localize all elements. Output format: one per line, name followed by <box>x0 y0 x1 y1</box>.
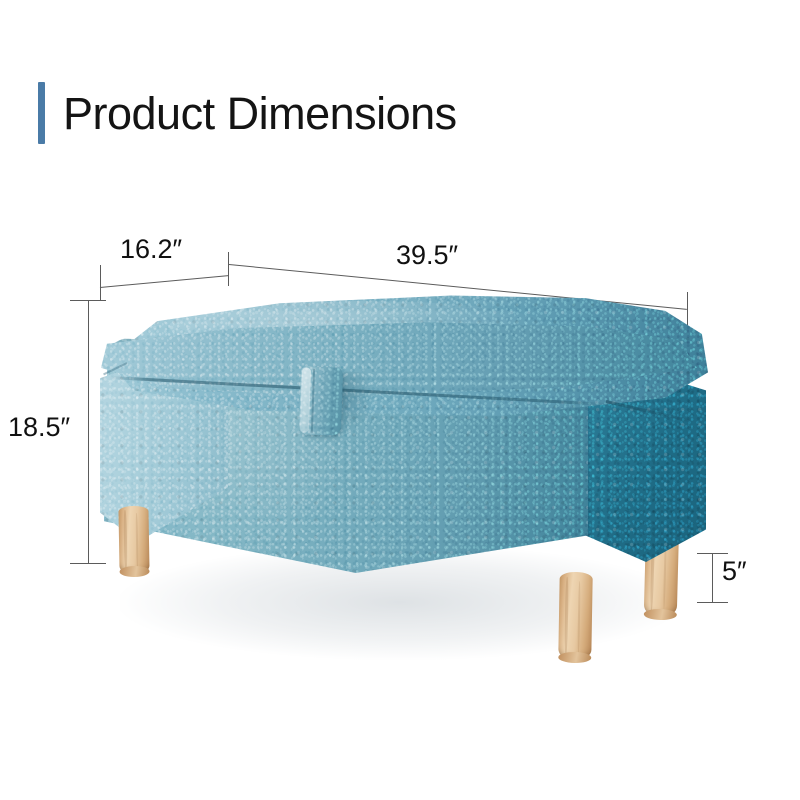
pull-tab-crease <box>311 369 315 433</box>
dimension-tick-depth-left <box>100 265 101 301</box>
dimension-tick-width-right <box>687 292 688 327</box>
dimension-line-height <box>88 300 89 564</box>
dimension-label-height: 18.5″ <box>8 412 70 443</box>
product-illustration <box>0 0 800 800</box>
dimension-cap-leg-top <box>697 553 728 554</box>
dimension-label-depth: 16.2″ <box>120 234 182 265</box>
dimension-cap-height-top <box>70 300 106 301</box>
product-dimensions-infographic: Product Dimensions <box>0 0 800 800</box>
leg-front-right <box>558 572 593 661</box>
dimension-label-leg-height: 5″ <box>722 556 747 587</box>
leg-cap <box>558 652 591 664</box>
leg-front-left <box>118 506 149 575</box>
dimension-cap-height-bottom <box>70 563 106 564</box>
leg-cap <box>644 609 677 621</box>
pull-tab-left-highlight <box>300 367 311 433</box>
dimension-cap-leg-bottom <box>697 602 728 603</box>
lid-pull-tab[interactable] <box>299 366 343 435</box>
leg-cap <box>119 566 149 578</box>
leg-shaft <box>558 572 593 661</box>
dimension-line-leg-height <box>712 553 713 603</box>
dimension-tick-depth-right <box>228 252 229 286</box>
dimension-label-width: 39.5″ <box>396 240 458 271</box>
